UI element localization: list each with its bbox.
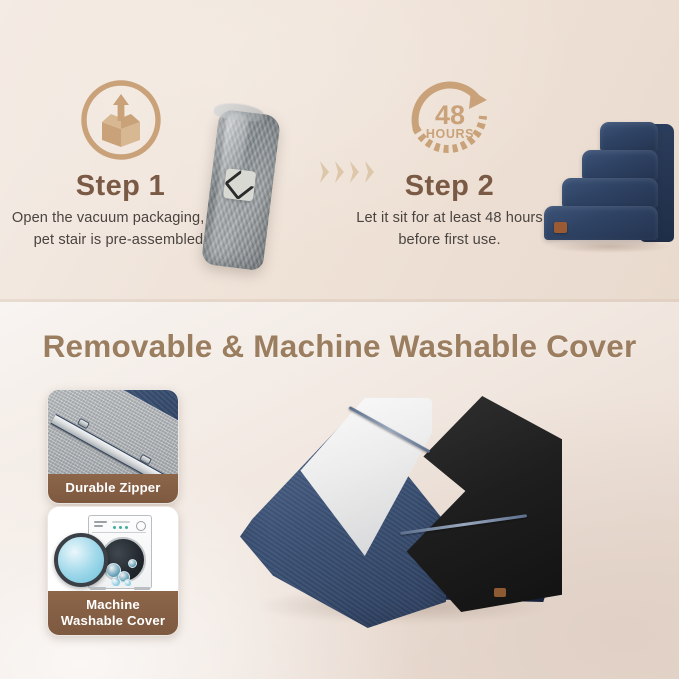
bubble-3 [111, 577, 121, 587]
brand-tag [554, 222, 567, 233]
infographic-page: Step 1 Open the vacuum packaging, the pe… [0, 0, 679, 679]
washing-machine-illustration [48, 507, 178, 591]
stair-step-4 [600, 122, 658, 152]
machine-washable-label-line2: Washable Cover [61, 613, 165, 628]
pet-stairs-cover-removal-photo [232, 382, 574, 644]
panel-dash-2 [94, 525, 103, 527]
hours-number: 48 [434, 100, 464, 130]
step-2-description: Let it sit for at least 48 hours before … [337, 208, 562, 251]
vacuum-sealed-package-photo [196, 106, 288, 274]
stair-step-3 [582, 150, 658, 180]
zipper-closeup-photo [48, 390, 178, 474]
washer-knob [136, 521, 146, 531]
washer-porthole [54, 533, 108, 587]
step-2-title: Step 2 [337, 172, 562, 201]
step-2-icon-wrap: 48 HOURS [337, 74, 562, 166]
panel-dot-1 [113, 526, 116, 529]
step-2-block: 48 HOURS Step 2 Let it sit for at least … [337, 74, 562, 251]
panel-dot-3 [125, 526, 128, 529]
washer-foot-right [134, 587, 150, 590]
navy-pet-stairs-photo [542, 110, 674, 250]
hours-unit: HOURS [425, 127, 473, 141]
product-brand-tag [494, 588, 506, 597]
setup-steps-section: Step 1 Open the vacuum packaging, the pe… [0, 0, 679, 301]
machine-washable-card: Machine Washable Cover [47, 506, 179, 636]
machine-washable-label: Machine Washable Cover [48, 591, 178, 635]
vacuum-bag [201, 109, 282, 271]
product-label [223, 168, 256, 201]
bubble-5 [124, 579, 132, 587]
stair-step-2 [562, 178, 658, 208]
durable-zipper-label: Durable Zipper [48, 474, 178, 503]
washer-foot-left [90, 587, 106, 590]
bubble-4 [128, 559, 137, 568]
brand-mark-icon [224, 169, 255, 200]
panel-dash-1 [94, 521, 107, 523]
open-box-arrow-up-icon [78, 77, 164, 163]
panel-dash-3 [112, 521, 130, 523]
panel-dot-2 [119, 526, 122, 529]
48-hours-clock-arrow-icon: 48 HOURS [405, 76, 495, 164]
stairs-body [542, 110, 674, 250]
machine-washable-label-line1: Machine [86, 597, 140, 612]
durable-zipper-card: Durable Zipper [47, 389, 179, 504]
washable-cover-heading: Removable & Machine Washable Cover [0, 328, 679, 365]
